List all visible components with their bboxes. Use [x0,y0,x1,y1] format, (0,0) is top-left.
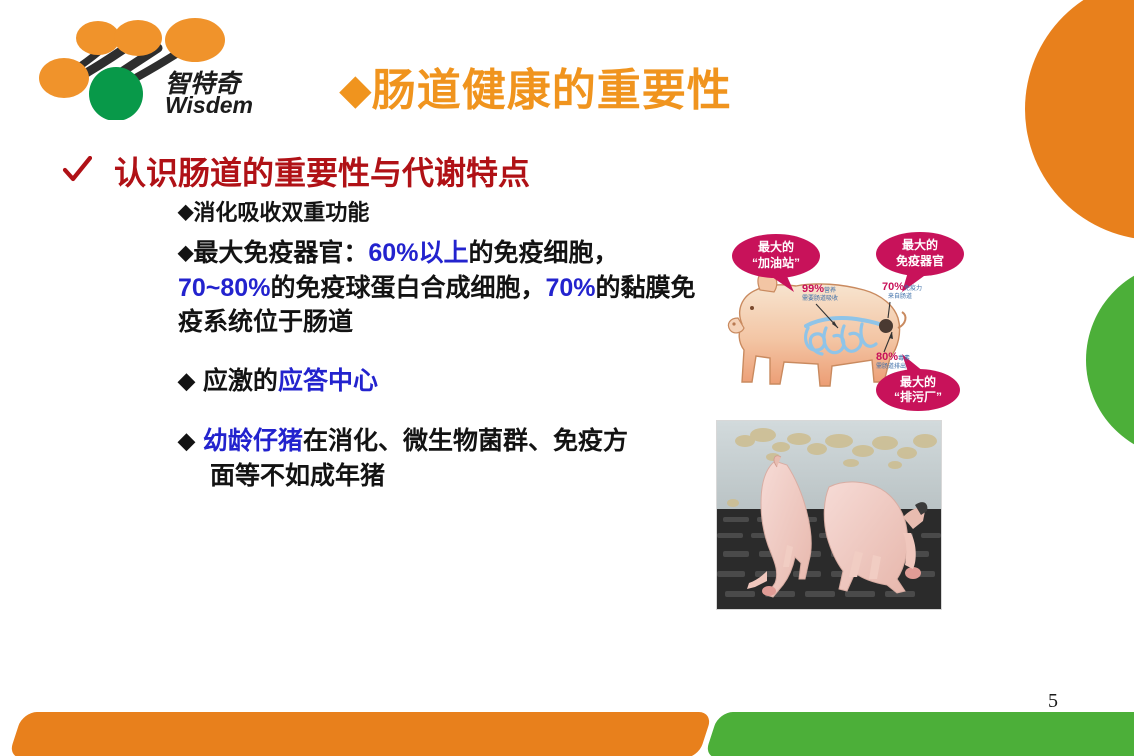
bubble-immune-organ-line1: 最大的 [902,237,938,252]
bullet-item-2: ◆最大免疫器官：60%以上的免疫细胞，70~80%的免疫球蛋白合成细胞，70%的… [178,236,698,340]
decorative-circle-green [1086,262,1134,458]
title-diamond-icon: ◆ [340,68,372,112]
decorative-circle-orange [1025,0,1134,240]
spacer [178,340,698,364]
callout-immunity-label2: 来自肠道 [888,292,912,300]
bubble-waste-plant-line2: “排污厂” [894,389,942,404]
callout-nutrient-label1: 营养 [824,286,836,294]
bullet-item-4-text-a: 在消化、微生物菌群、免疫方 [303,427,628,455]
bullet-item-4-text-b: 面等不如成年猪 [210,462,385,490]
bullet-item-3-text: 应激的 [203,367,278,395]
bullet-item-4-highlight: 幼龄仔猪 [203,427,303,455]
bubble-immune-organ-line2: 免疫器官 [896,253,944,268]
decorative-bar-orange [8,712,713,756]
callout-nutrient-label2: 需要肠道吸收 [802,294,838,302]
bubble-fuel-station-line2: “加油站” [752,255,800,270]
bullet-diamond-icon: ◆ [178,201,193,223]
bullet-item-2-text-a: 最大免疫器官： [193,239,368,267]
company-logo: 智特奇 Wisdem [22,12,254,120]
callout-immunity-pct: 70% [882,281,904,293]
photo-piglet-left-snout [762,586,776,596]
page-number: 5 [1048,690,1058,713]
spacer [178,398,698,424]
pig-intestine-infographic: 最大的 “加油站” 最大的 免疫器官 最大的 “排污厂” 99% 营养 [712,232,978,414]
callout-waste-label1: 毒素 [898,354,910,362]
intestine-end-marker [879,319,893,333]
slide: 智特奇 Wisdem ◆肠道健康的重要性 认识肠道的重要性与代谢特点 ◆消化吸收… [0,0,1134,756]
decorative-bar-green [704,712,1134,756]
bullet-item-2-text-b: 的免疫细胞， [468,239,618,267]
bubble-waste-plant-line1: 最大的 [900,374,936,389]
bullet-item-2-highlight-70-80: 70~80% [178,274,270,302]
bullet-item-4: ◆幼龄仔猪在消化、微生物菌群、免疫方 [178,424,698,459]
bubble-fuel-station-line1: 最大的 [758,239,794,254]
bullet-item-3: ◆应激的应答中心 [178,364,698,399]
weak-piglets-photo [716,420,942,610]
bullet-item-4-continued: 面等不如成年猪 [178,459,698,494]
slide-title: ◆肠道健康的重要性 [340,54,732,118]
section-heading-text: 认识肠道的重要性与代谢特点 [114,148,530,194]
bullet-item-2-text-c: 的免疫球蛋白合成细胞， [270,274,545,302]
body-content: ◆消化吸收双重功能 ◆最大免疫器官：60%以上的免疫细胞，70~80%的免疫球蛋… [178,198,698,493]
callout-nutrient-pct: 99% [802,283,824,295]
spacer [178,228,698,236]
callout-immunity-label1: 免疫力 [904,284,922,292]
bullet-diamond-icon: ◆ [178,242,193,264]
logo-brand-en: Wisdem [165,92,253,118]
bullet-item-1: ◆消化吸收双重功能 [178,198,698,228]
bullet-item-2-highlight-60: 60%以上 [368,239,468,267]
bullet-item-3-highlight: 应答中心 [278,367,378,395]
title-text: 肠道健康的重要性 [372,66,732,115]
bullet-diamond-icon: ◆ [178,368,195,393]
callout-waste-pct: 80% [876,351,898,363]
bullet-item-1-text: 消化吸收双重功能 [193,200,369,225]
check-icon [62,156,92,186]
callout-waste-label2: 需肠道排出 [876,362,906,370]
section-heading: 认识肠道的重要性与代谢特点 [62,148,530,194]
bullet-diamond-icon: ◆ [178,428,195,453]
bullet-item-2-highlight-70: 70% [545,274,595,302]
